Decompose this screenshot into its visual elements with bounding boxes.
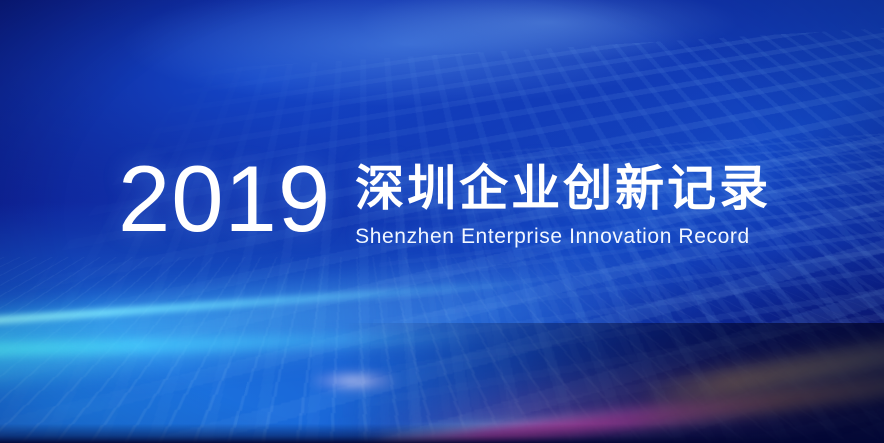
pink-gold-light-streak <box>366 372 884 443</box>
cyan-light-streak-wide <box>0 248 693 387</box>
pink-streak-halo <box>354 337 884 443</box>
title-text-group: 深圳企业创新记录 Shenzhen Enterprise Innovation … <box>355 156 771 250</box>
cyan-light-streak-low <box>0 330 478 357</box>
bottom-shadow-band <box>0 323 884 443</box>
cyan-light-streak-thin <box>0 279 531 326</box>
page-title: 深圳企业创新记录 <box>355 162 771 217</box>
title-block: 2019 深圳企业创新记录 Shenzhen Enterprise Innova… <box>118 156 771 250</box>
perspective-floor-grid <box>0 257 884 443</box>
banner-image: 2019 深圳企业创新记录 Shenzhen Enterprise Innova… <box>0 0 884 443</box>
gold-light-streak <box>639 335 884 413</box>
streak-convergence-bloom <box>309 370 399 392</box>
page-subtitle: Shenzhen Enterprise Innovation Record <box>355 224 771 250</box>
cyan-under-streak <box>372 397 831 443</box>
year-label: 2019 <box>118 156 331 242</box>
